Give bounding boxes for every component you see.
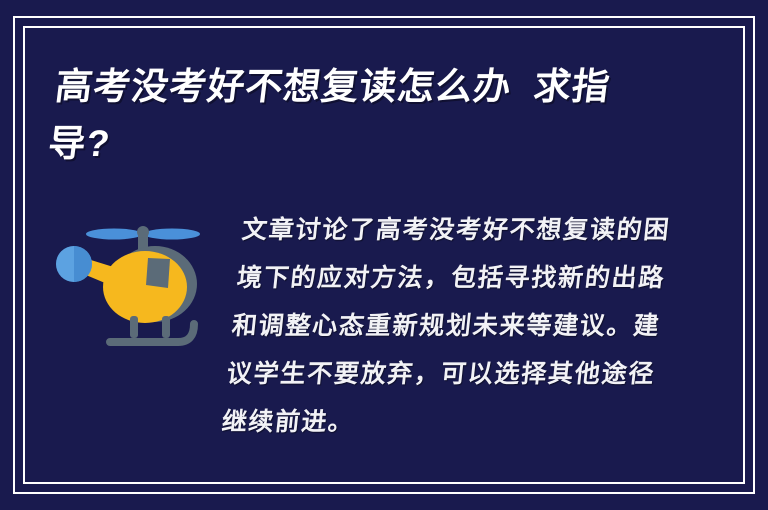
helicopter-illustration [52, 212, 212, 352]
skid-rail-icon [110, 324, 194, 342]
poster-canvas: 高考没考好不想复读怎么办 求指导? [0, 0, 768, 510]
poster-body-text: 文章讨论了高考没考好不想复读的困境下的应对方法，包括寻找新的出路和调整心态重新规… [219, 206, 672, 446]
cockpit-window-icon [146, 258, 170, 288]
rotor-blade-left-icon [86, 229, 142, 240]
skid-strut-right-icon [162, 316, 170, 338]
rotor-blade-right-icon [144, 229, 200, 240]
helicopter-icon [52, 212, 212, 352]
helicopter-body-icon [103, 251, 187, 323]
poster-content: 文章讨论了高考没考好不想复读的困境下的应对方法，包括寻找新的出路和调整心态重新规… [52, 200, 716, 460]
poster-title: 高考没考好不想复读怎么办 求指导? [45, 58, 659, 172]
skid-strut-left-icon [130, 316, 138, 338]
rotor-hub-icon [137, 226, 149, 238]
tail-rotor-shade-icon [74, 246, 92, 282]
